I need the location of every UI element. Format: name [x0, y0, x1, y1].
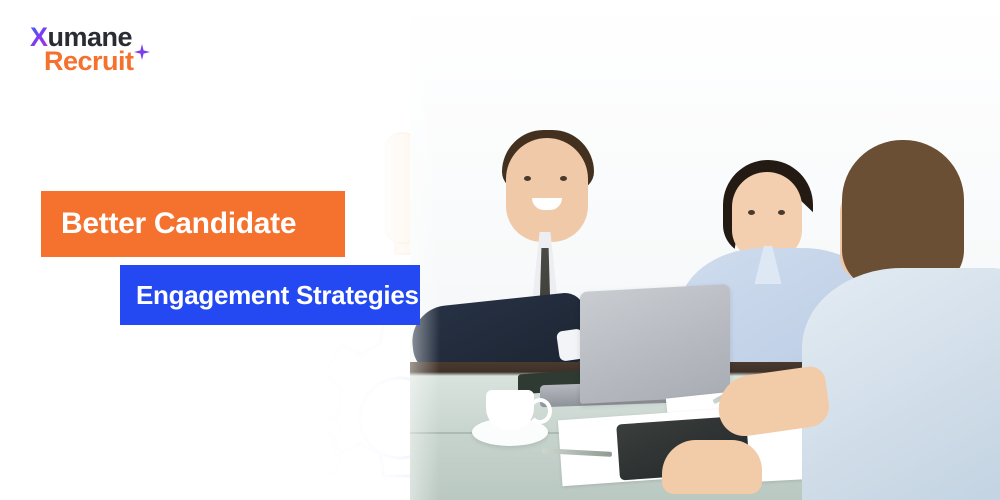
eye [524, 176, 531, 181]
laptop-screen [580, 284, 730, 404]
logo[interactable]: Xumane Recruit [30, 24, 230, 84]
sparkle-icon [134, 44, 150, 60]
foreground-man-shirt [802, 268, 1000, 500]
eye [560, 176, 567, 181]
marketing-banner: Xumane Recruit Better Candidate Engageme… [0, 0, 1000, 500]
eye [748, 210, 755, 215]
headline-line-2: Engagement Strategies [120, 265, 420, 325]
meeting-photo [410, 0, 1000, 500]
logo-wordmark-recruit: Recruit [44, 48, 134, 75]
eye [778, 210, 785, 215]
foreground-man-hand [662, 440, 762, 494]
headline-line-1: Better Candidate [41, 191, 345, 257]
coffee-cup [486, 390, 534, 430]
